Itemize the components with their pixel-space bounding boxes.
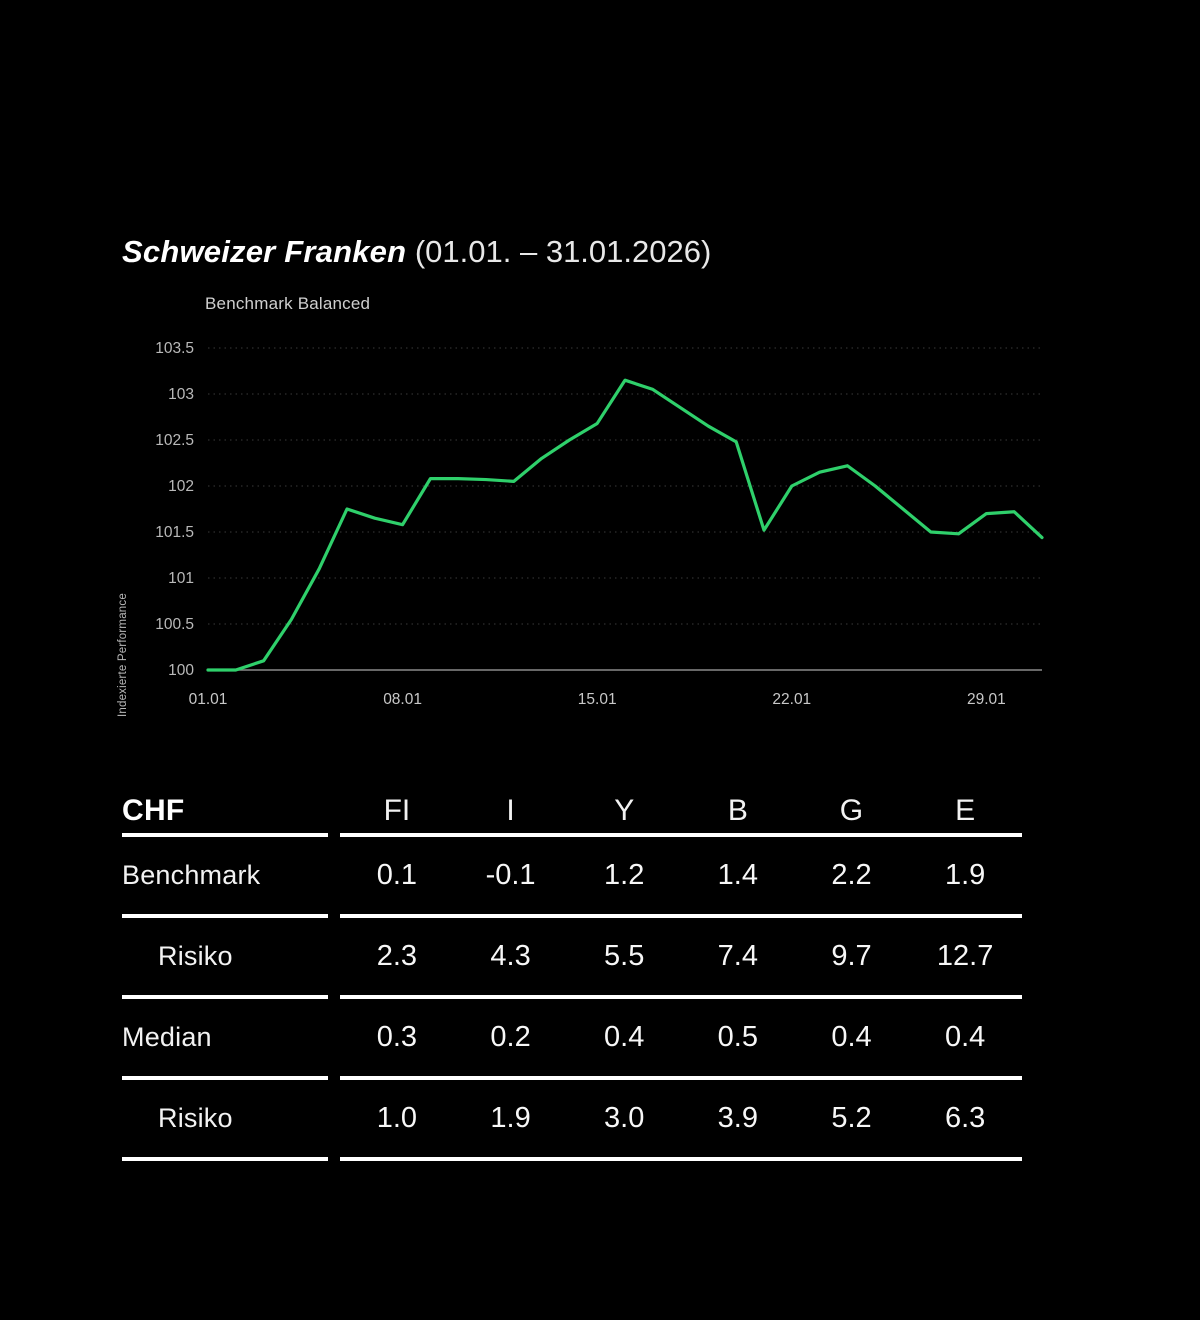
table-cell-value: 1.9: [908, 839, 1022, 911]
page-title: Schweizer Franken (01.01. – 31.01.2026): [122, 233, 711, 271]
separator-gap: [328, 995, 340, 999]
separator-bar-values: [340, 833, 1022, 837]
table-cell-value: 0.4: [795, 1001, 909, 1073]
table-row: Risiko1.01.93.03.95.26.3: [122, 1082, 1022, 1154]
report-page: Schweizer Franken (01.01. – 31.01.2026) …: [0, 0, 1200, 1320]
separator-bar-label: [122, 914, 328, 918]
chart-y-tick-label: 100: [168, 662, 194, 679]
chart-plot-area: 100100.5101101.5102102.5103103.501.0108.…: [0, 290, 1200, 730]
chart-y-tick-label: 102: [168, 478, 194, 495]
page-title-main: Schweizer Franken: [122, 234, 406, 269]
table-cell-value: 2.2: [795, 839, 909, 911]
separator-bar-values: [340, 914, 1022, 918]
separator-bar-label: [122, 995, 328, 999]
chart-x-tick-label: 15.01: [578, 691, 617, 708]
table-cell-value: 0.3: [340, 1001, 454, 1073]
table-cell-value: 1.0: [340, 1082, 454, 1154]
table-header-cell-g: G: [795, 770, 909, 830]
separator-bar-values: [340, 1076, 1022, 1080]
table-cell-value: 12.7: [908, 920, 1022, 992]
separator-bar-label: [122, 833, 328, 837]
table-header-cell-y: Y: [567, 770, 681, 830]
table-header-cell-fi: FI: [340, 770, 454, 830]
table-row-label: Benchmark: [122, 839, 328, 911]
table-cell-value: 0.4: [908, 1001, 1022, 1073]
table-header-cell-b: B: [681, 770, 795, 830]
table-separator: [122, 830, 1022, 839]
chart-y-tick-label: 103.5: [155, 340, 194, 357]
table-cell-value: 5.2: [795, 1082, 909, 1154]
chart-x-tick-label: 01.01: [189, 691, 228, 708]
separator-bar-values: [340, 1157, 1022, 1161]
table-row: Risiko2.34.35.57.49.712.7: [122, 920, 1022, 992]
table-header-cell-i: I: [454, 770, 568, 830]
table-header-currency: CHF: [122, 770, 328, 830]
table-cell-value: -0.1: [454, 839, 568, 911]
chart-x-tick-label: 29.01: [967, 691, 1006, 708]
separator-gap: [328, 1157, 340, 1161]
separator-gap: [328, 1076, 340, 1080]
statistics-table: CHFFIIYBGEBenchmark0.1-0.11.21.42.21.9Ri…: [122, 770, 1022, 1163]
table-row-label: Risiko: [122, 1082, 328, 1154]
table-cell-value: 4.3: [454, 920, 568, 992]
table-separator: [122, 992, 1022, 1001]
table-cell-value: 1.4: [681, 839, 795, 911]
table-cell-value: 0.5: [681, 1001, 795, 1073]
table-cell-value: 2.3: [340, 920, 454, 992]
table-cell-value: 9.7: [795, 920, 909, 992]
table-row-label: Median: [122, 1001, 328, 1073]
table-cell-value: 0.1: [340, 839, 454, 911]
table-separator: [122, 911, 1022, 920]
separator-gap: [328, 833, 340, 837]
table-cell-value: 3.9: [681, 1082, 795, 1154]
table-cell-value: 0.4: [567, 1001, 681, 1073]
table-separator: [122, 1073, 1022, 1082]
chart-series-line: [208, 380, 1042, 670]
chart-y-tick-label: 102.5: [155, 432, 194, 449]
chart-y-tick-label: 103: [168, 386, 194, 403]
table-cell-value: 7.4: [681, 920, 795, 992]
separator-gap: [328, 914, 340, 918]
separator-bar-values: [340, 995, 1022, 999]
chart-x-tick-label: 08.01: [383, 691, 422, 708]
performance-chart: Benchmark Balanced Indexierte Performanc…: [0, 290, 1200, 730]
table-row: Median0.30.20.40.50.40.4: [122, 1001, 1022, 1073]
table-separator: [122, 1154, 1022, 1163]
table-cell-value: 0.2: [454, 1001, 568, 1073]
chart-y-tick-label: 101: [168, 570, 194, 587]
table-cell-value: 1.2: [567, 839, 681, 911]
chart-y-tick-label: 100.5: [155, 616, 194, 633]
separator-bar-label: [122, 1076, 328, 1080]
chart-y-tick-label: 101.5: [155, 524, 194, 541]
chart-x-tick-label: 22.01: [772, 691, 811, 708]
table-cell-value: 1.9: [454, 1082, 568, 1154]
table-cell-value: 5.5: [567, 920, 681, 992]
table-cell-value: 3.0: [567, 1082, 681, 1154]
table-row: Benchmark0.1-0.11.21.42.21.9: [122, 839, 1022, 911]
table-cell-value: 6.3: [908, 1082, 1022, 1154]
table-row-label: Risiko: [122, 920, 328, 992]
table-header-cell-e: E: [908, 770, 1022, 830]
page-title-date-range: (01.01. – 31.01.2026): [406, 234, 711, 269]
separator-bar-label: [122, 1157, 328, 1161]
table-header-row: CHFFIIYBGE: [122, 770, 1022, 830]
